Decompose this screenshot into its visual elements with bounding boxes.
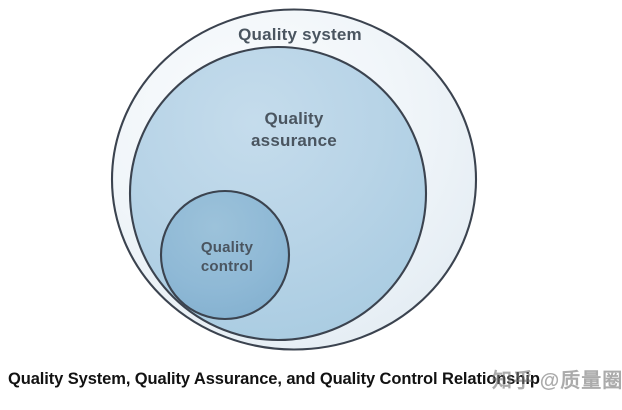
- nested-circles-svg: Quality system Quality assurance Quality…: [0, 0, 622, 356]
- label-quality-control-line1: Quality: [201, 239, 254, 256]
- label-quality-control-line2: control: [201, 258, 253, 275]
- quality-diagram: Quality system Quality assurance Quality…: [0, 0, 622, 356]
- label-quality-system: Quality system: [238, 25, 362, 44]
- label-quality-assurance-line2: assurance: [251, 131, 337, 150]
- screenshot-root: Quality system Quality assurance Quality…: [0, 0, 622, 410]
- caption-bar: Quality System, Quality Assurance, and Q…: [0, 356, 622, 410]
- circle-quality-assurance: [130, 47, 426, 340]
- label-quality-assurance-line1: Quality: [264, 109, 323, 128]
- diagram-caption: Quality System, Quality Assurance, and Q…: [8, 370, 614, 389]
